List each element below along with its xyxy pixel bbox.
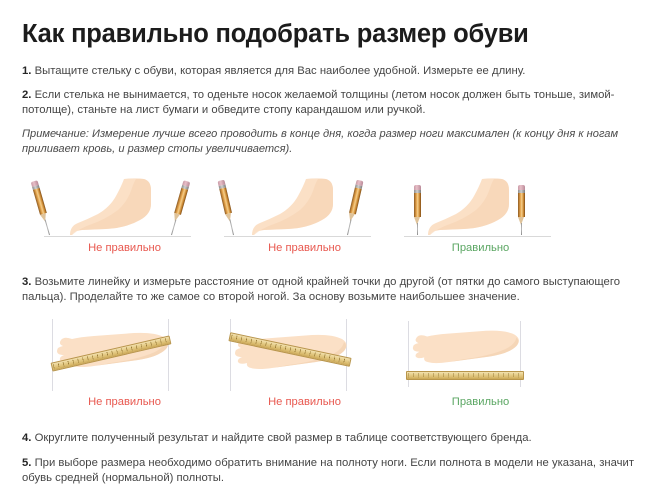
pencil-icon [217,180,236,236]
foot-side-icon [248,178,348,236]
step-1-text: Вытащите стельку с обуви, которая являет… [35,65,526,77]
step-2-text: Если стелька не вынимается, то оденьте н… [22,89,614,116]
figure-pencil-right: Правильно [400,173,555,261]
figure-pencil-right-canvas [400,173,555,237]
pencil-lead-icon [347,219,352,235]
step-1-number: 1. [22,65,31,77]
figure-pencil-wrong-2: Не правильно [220,173,375,261]
pencil-icon [518,185,525,235]
figure-caption: Правильно [400,396,555,408]
guide-line-left [52,319,53,391]
foot-outline-icon [410,325,526,367]
page-title: Как правильно подобрать размер обуви [22,0,648,48]
figure-ruler-wrong-2: Не правильно [220,319,375,419]
foot-side-icon [424,178,524,236]
guide-line-left [230,319,231,391]
step-5-text: При выборе размера необходимо обратить в… [22,457,634,484]
figure-caption: Правильно [400,242,555,254]
pencil-body-icon [414,193,421,217]
pencil-lead-icon [229,219,234,235]
pencil-icon [168,180,190,236]
ruler-ticks-minor [408,376,522,378]
ruler-icon [406,371,524,380]
pencil-body-icon [518,193,525,217]
step-5-number: 5. [22,457,31,469]
pencil-lead-icon [44,220,50,236]
figure-pencil-wrong-1-canvas [40,173,195,237]
ground-line [404,236,551,237]
step-4-text: Округлите полученный результат и найдите… [35,432,532,444]
step-5: 5. При выборе размера необходимо обратит… [22,456,648,486]
figure-caption: Не правильно [40,242,195,254]
pencil-lead-icon [417,223,418,235]
pencil-lead-icon [171,220,177,236]
pencil-body-icon [219,188,232,215]
illustration-row-pencil: Не правильно [22,173,652,261]
foot-side-icon [66,178,166,236]
figure-ruler-wrong-1: Не правильно [40,319,195,419]
pencil-icon [414,185,421,235]
pencil-body-icon [33,188,47,215]
pencil-body-icon [349,188,362,215]
figure-caption: Не правильно [40,396,195,408]
pencil-body-icon [174,188,188,215]
step-4-number: 4. [22,432,31,444]
figure-pencil-wrong-2-canvas [220,173,375,237]
ground-line [44,236,191,237]
figure-ruler-right-canvas [400,319,560,391]
figure-caption: Не правильно [220,396,375,408]
illustration-row-ruler: Не правильно Не правильно [22,319,652,419]
step-3: 3. Возьмите линейку и измерьте расстояни… [22,275,648,305]
figure-ruler-right: Правильно [400,319,555,419]
note-text: Примечание: Измерение лучше всего провод… [22,127,648,157]
figure-pencil-wrong-1: Не правильно [40,173,195,261]
pencil-icon [31,180,53,236]
step-3-number: 3. [22,276,31,288]
step-2-number: 2. [22,89,31,101]
figure-ruler-wrong-1-canvas [40,319,200,391]
article-page: Как правильно подобрать размер обуви 1. … [0,0,670,503]
step-2: 2. Если стелька не вынимается, то оденьт… [22,88,648,118]
pencil-lead-icon [521,223,522,235]
step-1: 1. Вытащите стельку с обуви, которая явл… [22,64,648,79]
figure-caption: Не правильно [220,242,375,254]
step-3-text: Возьмите линейку и измерьте расстояние о… [22,276,620,303]
step-4: 4. Округлите полученный результат и найд… [22,431,648,446]
figure-ruler-wrong-2-canvas [220,319,380,391]
ground-line [224,236,371,237]
